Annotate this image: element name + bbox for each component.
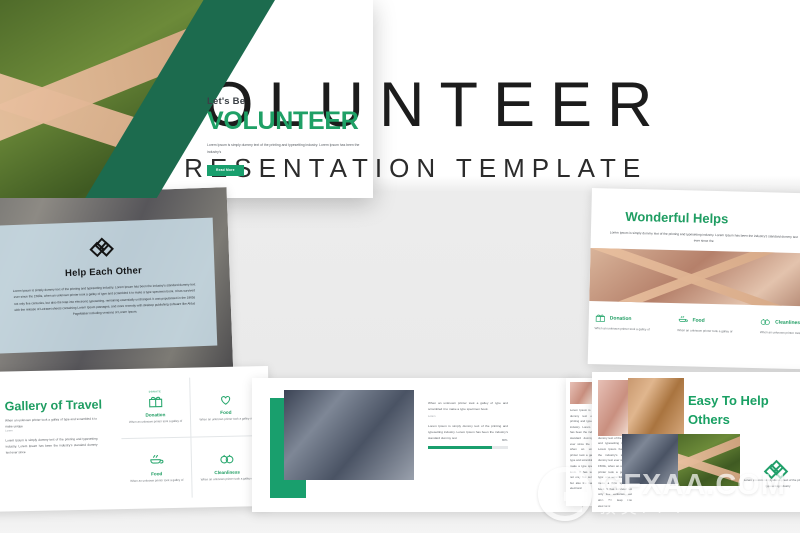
- donation-box-icon: [595, 312, 606, 323]
- progress-percent-label: 80%: [502, 439, 507, 442]
- list-item[interactable]: DONATE Donation When an unknown printer …: [120, 378, 191, 439]
- progress-bar: [428, 446, 508, 449]
- progress-bar-fill: [428, 446, 492, 449]
- donation-box-icon: [147, 393, 163, 409]
- list-item-desc: When an unknown printer took a galley of: [594, 326, 665, 333]
- slide-help-each-other[interactable]: Help Each Other Lorem Ipsum is simply du…: [0, 187, 233, 383]
- featured-pretitle: Let's Be: [207, 96, 365, 107]
- slide-easy-to-help-others[interactable]: Easy To Help Others Lorem Ipsum is simpl…: [592, 372, 800, 512]
- gallery-title: Gallery of Travel: [5, 397, 103, 413]
- slide-wonderful-helps[interactable]: Wonderful Helps Lorem Ipsum is simply du…: [588, 188, 800, 370]
- featured-body: Lorem Ipsum is simply dummy text of the …: [207, 142, 365, 156]
- list-item[interactable]: Donation When an unknown printer took a …: [588, 312, 671, 334]
- list-item[interactable]: Food When an unknown printer took a gall…: [121, 438, 192, 499]
- progress-paragraph-2: Lorem Ipsum is simply dummy text of the …: [428, 423, 508, 442]
- slide-progress[interactable]: When an unknown printer took a galley of…: [252, 378, 582, 512]
- progress-slide-photo: [284, 390, 414, 480]
- list-item-desc: When an unknown printer took a galley of: [130, 478, 183, 485]
- list-item-name: Donation: [145, 412, 165, 417]
- read-more-button[interactable]: Read More: [207, 165, 244, 176]
- list-item-desc: When an unknown printer took a galley of: [201, 477, 254, 484]
- list-item-name: Cleanliness: [214, 470, 240, 476]
- gallery-paragraph-2: Lorem Ipsum is simply dummy text of the …: [5, 436, 97, 456]
- progress-paragraph-1: When an unknown printer took a galley of…: [428, 400, 508, 412]
- list-item-name: Donation: [610, 315, 632, 322]
- list-item-name: Cleanliness: [775, 319, 800, 326]
- gallery-small-label: Lorem: [5, 429, 12, 432]
- wonderful-helps-subtitle: Lorem Ipsum is simply dummy text of the …: [609, 229, 799, 246]
- poster-canvas: VOLUNTEER PRESENTATION TEMPLATE Help Eac…: [0, 0, 800, 533]
- gallery-icon-grid: DONATE Donation When an unknown printer …: [120, 376, 262, 499]
- hands-heart-icon: [217, 390, 233, 406]
- easy-photo-3: [622, 434, 680, 484]
- easy-photo-2: [628, 378, 684, 436]
- easy-to-help-footer: Lorem Ipsum is simply dummy text of the …: [742, 478, 800, 489]
- wonderful-helps-items: Donation When an unknown printer took a …: [588, 312, 800, 338]
- featured-title: VOLUNTEER: [207, 109, 365, 134]
- featured-slide-text: Let's Be VOLUNTEER Lorem Ipsum is simply…: [207, 96, 365, 176]
- list-item-name: Food: [151, 471, 162, 476]
- cleanliness-icon: [760, 316, 771, 327]
- list-item-name: Food: [220, 410, 231, 415]
- slide-gallery-of-travel[interactable]: Gallery of Travel When an unknown printe…: [0, 366, 271, 512]
- cleanliness-icon: [219, 451, 235, 467]
- help-each-other-title: Help Each Other: [10, 263, 196, 281]
- easy-photo-4: [678, 434, 740, 486]
- list-item-name: Food: [692, 317, 704, 323]
- list-item[interactable]: Food When an unknown printer took a gall…: [671, 314, 754, 336]
- easy-to-help-title: Easy To Help Others: [688, 392, 800, 430]
- list-item-desc: When an unknown printer took a galley of: [129, 419, 182, 426]
- wonderful-helps-title: Wonderful Helps: [625, 209, 728, 227]
- list-item-desc: When an unknown printer took a galley of: [760, 330, 800, 337]
- list-item[interactable]: Cleanliness When an unknown printer took…: [754, 316, 800, 338]
- list-item-desc: When an unknown printer took a galley of: [199, 416, 252, 423]
- food-bowl-icon: [677, 314, 688, 325]
- list-item-desc: When an unknown printer took a galley of: [677, 328, 748, 335]
- progress-small-label: Lorem: [428, 415, 435, 418]
- food-bowl-icon: [148, 452, 164, 468]
- diamond-logo-icon: [91, 239, 114, 260]
- help-each-other-body: Lorem Ipsum is simply dummy text of the …: [11, 281, 198, 319]
- list-item[interactable]: Food When an unknown printer took a gall…: [190, 376, 261, 437]
- help-each-other-panel: Help Each Other Lorem Ipsum is simply du…: [0, 218, 217, 354]
- wonderful-helps-photo: [589, 248, 800, 307]
- gallery-paragraph-1: When an unknown printer took a galley of…: [5, 416, 97, 430]
